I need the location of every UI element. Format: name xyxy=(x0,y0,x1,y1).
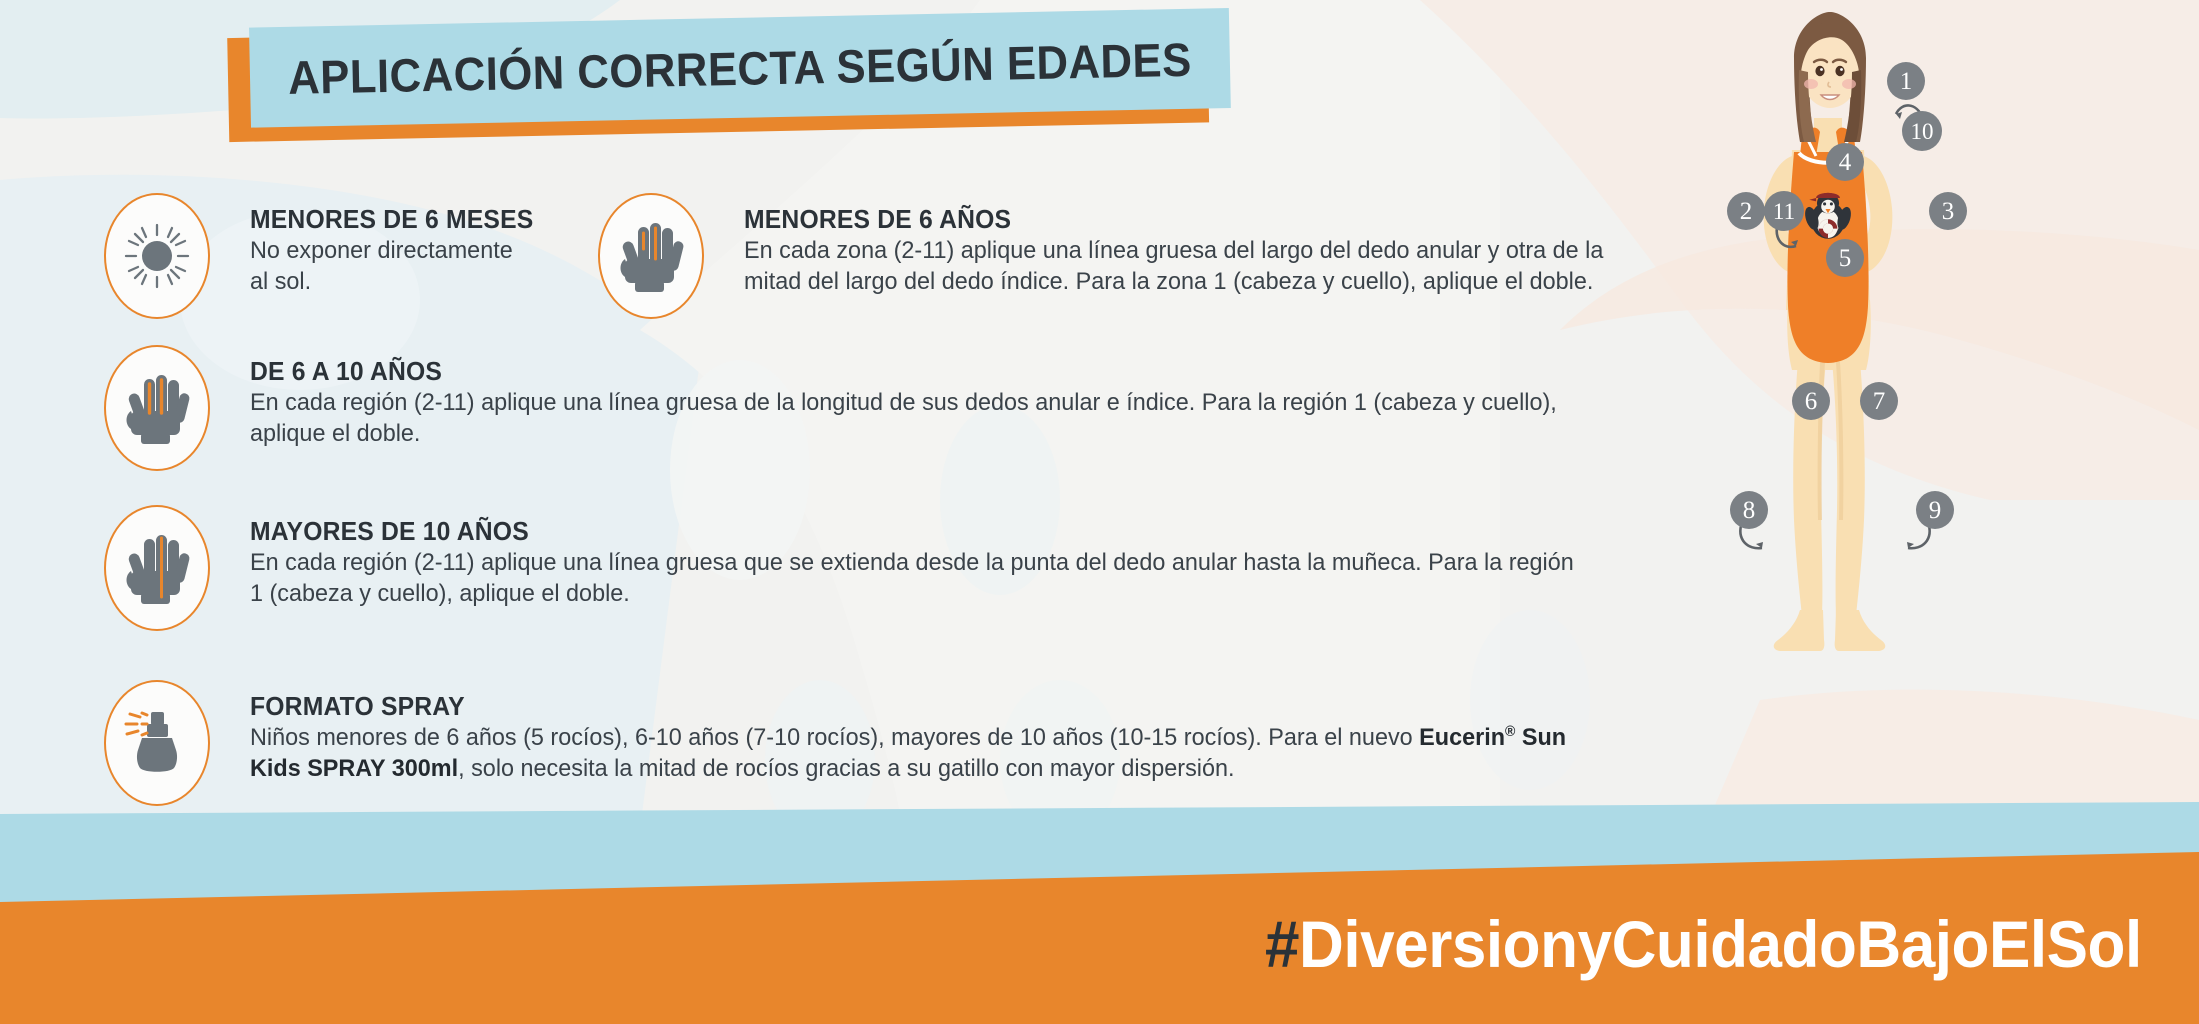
hand-two-fingers-icon xyxy=(104,345,210,471)
zone-marker-5[interactable]: 5 xyxy=(1826,239,1864,277)
section-title: FORMATO SPRAY xyxy=(250,692,1647,721)
hashtag-label: DiversionyCuidadoBajoElSol xyxy=(1299,907,2142,981)
hand-one-finger-icon xyxy=(598,193,704,319)
zone-marker-4[interactable]: 4 xyxy=(1826,143,1864,181)
section-body: Niños menores de 6 años (5 rocíos), 6-10… xyxy=(250,723,1654,785)
section-body: No exponer directamenteal sol. xyxy=(250,236,537,298)
section-body: En cada región (2-11) aplique una línea … xyxy=(250,388,1654,450)
zone-marker-6[interactable]: 6 xyxy=(1792,382,1830,420)
zone-marker-7[interactable]: 7 xyxy=(1860,382,1898,420)
section-title: MENORES DE 6 AÑOS xyxy=(744,205,1656,234)
section-title: MAYORES DE 10 AÑOS xyxy=(250,517,1647,546)
title-banner: APLICACIÓN CORRECTA SEGÚN EDADES xyxy=(239,8,1221,136)
section-body: En cada zona (2-11) aplique una línea gr… xyxy=(744,236,1661,298)
section-title: MENORES DE 6 MESES xyxy=(250,205,535,234)
section-body: En cada región (2-11) aplique una línea … xyxy=(250,548,1654,610)
zone-marker-3[interactable]: 3 xyxy=(1929,192,1967,230)
bottom-banner: #DiversionyCuidadoBajoElSol xyxy=(0,794,2199,1024)
hash-symbol: # xyxy=(1265,907,1299,981)
page-title: APLICACIÓN CORRECTA SEGÚN EDADES xyxy=(283,9,1196,127)
zone-marker-11[interactable]: 11 xyxy=(1764,191,1804,231)
hashtag-text: #DiversionyCuidadoBajoElSol xyxy=(1265,906,2142,982)
section-title: DE 6 A 10 AÑOS xyxy=(250,357,1647,386)
zone-marker-1[interactable]: 1 xyxy=(1887,62,1925,100)
zone-marker-8[interactable]: 8 xyxy=(1730,491,1768,529)
zone-marker-2[interactable]: 2 xyxy=(1727,192,1765,230)
girl-illustration: 1 10 4 2 11 3 5 6 7 8 9 xyxy=(1680,10,1980,810)
zone-marker-10[interactable]: 10 xyxy=(1902,111,1942,151)
hand-long-line-icon xyxy=(104,505,210,631)
spray-bottle-icon xyxy=(104,680,210,806)
zone-marker-9[interactable]: 9 xyxy=(1916,491,1954,529)
sun-icon xyxy=(104,193,210,319)
